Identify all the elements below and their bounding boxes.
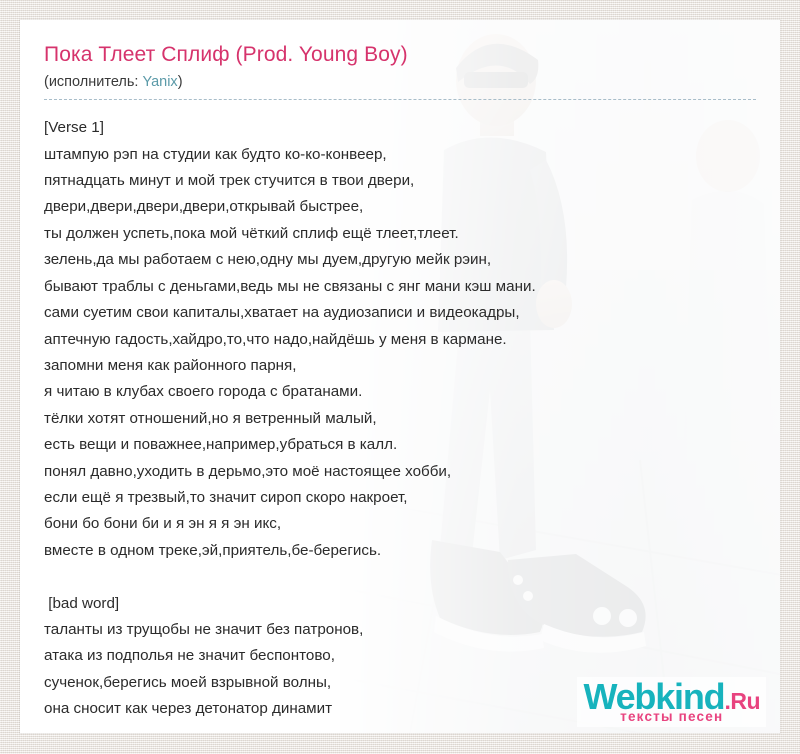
lyric-line: бывают траблы с деньгами,ведь мы не связ…: [44, 274, 756, 300]
lyric-line: вместе в одном треке,эй,приятель,бе-бере…: [44, 538, 756, 564]
lyric-line: таланты из трущобы не значит без патроно…: [44, 617, 756, 643]
artist-line: (исполнитель: Yanix): [44, 74, 756, 100]
webkind-logo[interactable]: Webkind.Ru тексты песен: [577, 677, 766, 728]
lyric-line: есть вещи и поважнее,например,убраться в…: [44, 432, 756, 458]
artist-link[interactable]: Yanix: [142, 74, 177, 90]
artist-suffix-label: ): [178, 74, 183, 90]
lyric-line: бони бо бони би и я эн я я эн икс,: [44, 511, 756, 537]
lyric-line: тёлки хотят отношений,но я ветренный мал…: [44, 406, 756, 432]
lyric-line: зелень,да мы работаем с нею,одну мы дуем…: [44, 247, 756, 273]
lyric-line: атака из подполья не значит беспонтово,: [44, 643, 756, 669]
lyric-section-tag: [Verse 1]: [44, 115, 756, 141]
artist-prefix-label: (исполнитель:: [44, 74, 142, 90]
page-title: Пока Тлеет Сплиф (Prod. Young Boy): [44, 42, 756, 68]
lyric-line: штампую рэп на студии как будто ко-ко-ко…: [44, 142, 756, 168]
lyric-line: пятнадцать минут и мой трек стучится в т…: [44, 168, 756, 194]
lyric-line: понял давно,уходить в дерьмо,это моё нас…: [44, 459, 756, 485]
lyric-line: ты должен успеть,пока мой чёткий сплиф е…: [44, 221, 756, 247]
content-card: Пока Тлеет Сплиф (Prod. Young Boy) (испо…: [20, 20, 780, 733]
lyric-line: аптечную гадость,хайдро,то,что надо,найд…: [44, 327, 756, 353]
lyric-line: запомни меня как районного парня,: [44, 353, 756, 379]
lyric-line: если ещё я трезвый,то значит сироп скоро…: [44, 485, 756, 511]
page-inner: Пока Тлеет Сплиф (Prod. Young Boy) (испо…: [20, 20, 780, 723]
lyric-line: сами суетим свои капиталы,хватает на ауд…: [44, 300, 756, 326]
lyric-section-tag: [bad word]: [44, 591, 756, 617]
lyric-line: я читаю в клубах своего города с братана…: [44, 379, 756, 405]
lyrics-body: [Verse 1]штампую рэп на студии как будто…: [44, 115, 756, 722]
lyric-spacer: [44, 564, 756, 590]
logo-tld: .Ru: [724, 688, 760, 714]
lyric-line: двери,двери,двери,двери,открывай быстрее…: [44, 194, 756, 220]
